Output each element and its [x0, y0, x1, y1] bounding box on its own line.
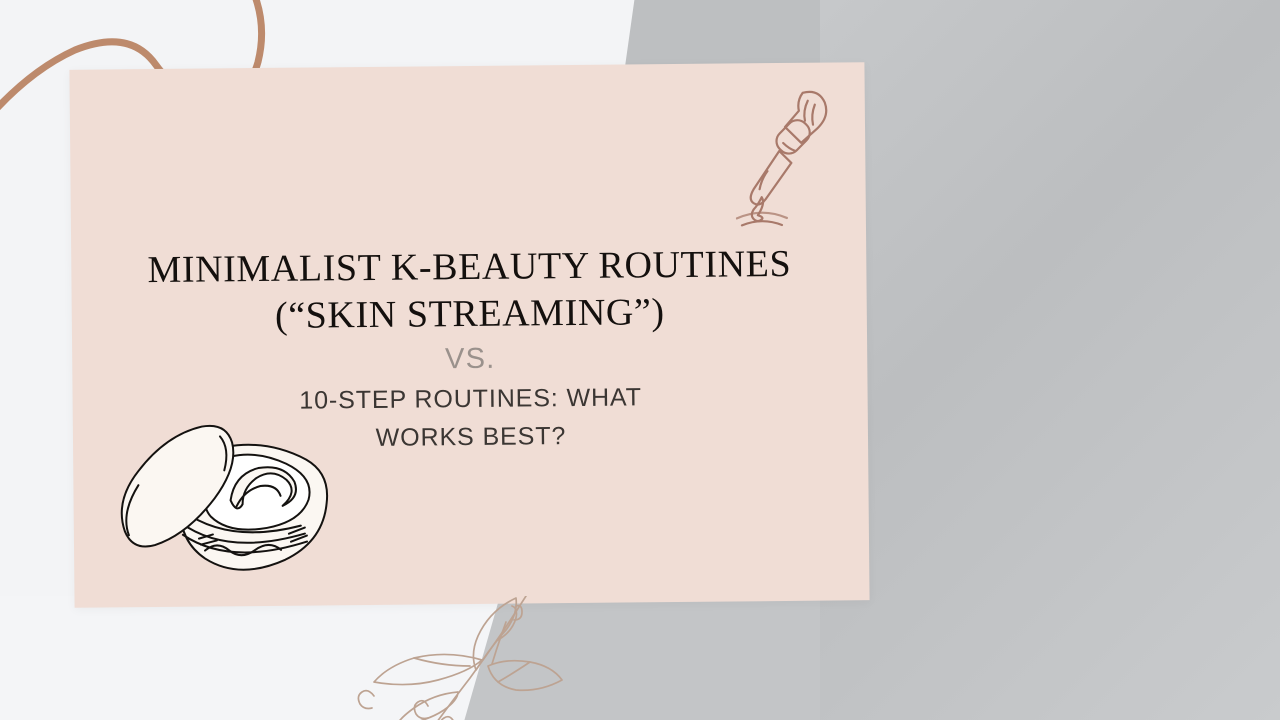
slide-canvas: MINIMALIST K-BEAUTY ROUTINES (“SKIN STRE… — [0, 0, 1280, 720]
subtitle-line-2: WORKS BEST? — [131, 415, 811, 460]
content-card: MINIMALIST K-BEAUTY ROUTINES (“SKIN STRE… — [69, 62, 869, 608]
title-line-1: MINIMALIST K-BEAUTY ROUTINES — [129, 241, 809, 295]
headline-block: MINIMALIST K-BEAUTY ROUTINES (“SKIN STRE… — [129, 241, 811, 460]
background-light-bottom-left — [0, 596, 500, 720]
versus-label: VS. — [130, 335, 810, 384]
title-line-2: (“SKIN STREAMING”) — [130, 288, 810, 342]
photo-backdrop — [820, 0, 1280, 720]
model-portrait — [820, 0, 1280, 720]
subtitle-line-1: 10-STEP ROUTINES: WHAT — [130, 377, 810, 422]
dropper-icon — [735, 84, 846, 230]
